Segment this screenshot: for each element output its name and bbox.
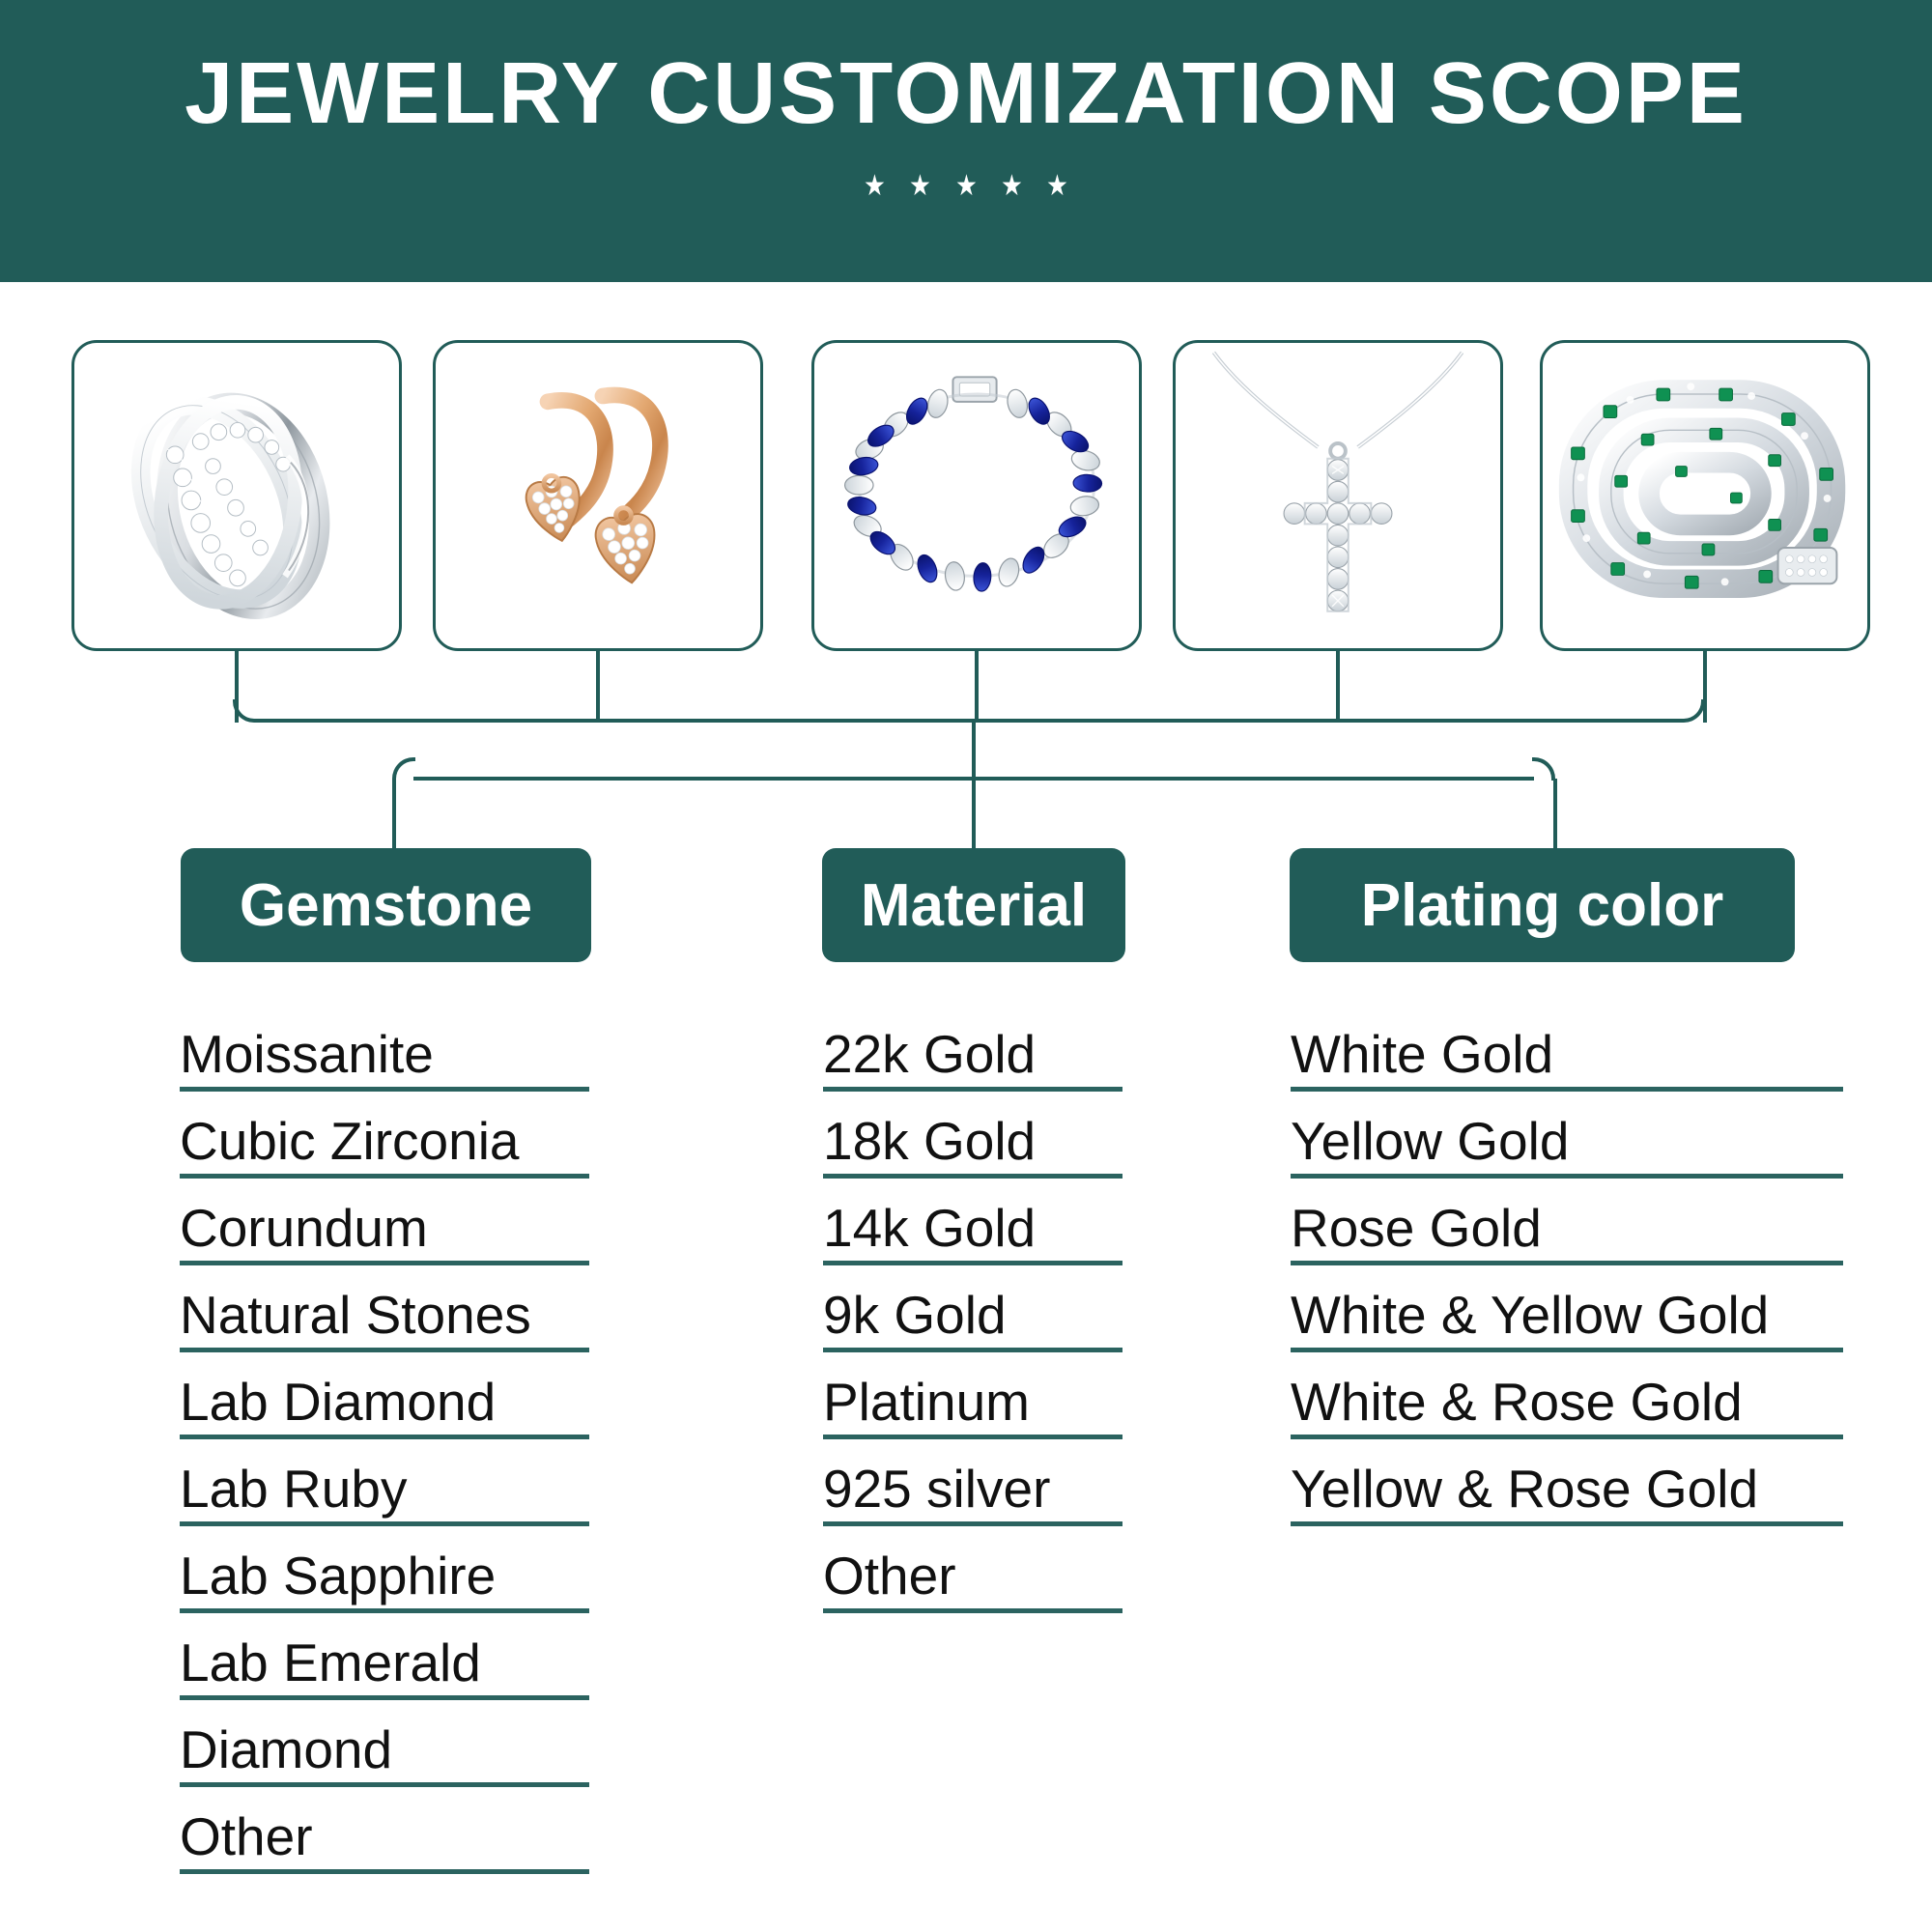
option-row[interactable]: Moissanite [180,1005,589,1092]
infographic-page: JEWELRY CUSTOMIZATION SCOPE ★ ★ ★ ★ ★ [0,0,1932,1932]
option-row[interactable]: 18k Gold [823,1092,1122,1179]
product-card-bracelet[interactable] [811,340,1142,651]
page-title: JEWELRY CUSTOMIZATION SCOPE [0,48,1932,140]
option-list-gemstone: Moissanite Cubic Zirconia Corundum Natur… [180,1005,589,1874]
option-label: Lab Emerald [180,1635,481,1691]
option-row[interactable]: Rose Gold [1291,1179,1843,1265]
option-label: Other [180,1809,313,1865]
connector-drop-material [972,779,976,850]
option-list-material: 22k Gold 18k Gold 14k Gold 9k Gold Plati… [823,1005,1122,1613]
connector-drop-plating-color [1553,779,1557,850]
option-row[interactable]: 14k Gold [823,1179,1122,1265]
option-row[interactable]: Other [180,1787,589,1874]
star-icon: ★ [864,172,886,201]
option-row[interactable]: White Gold [1291,1005,1843,1092]
header-banner: JEWELRY CUSTOMIZATION SCOPE ★ ★ ★ ★ ★ [0,0,1932,282]
option-label: Lab Diamond [180,1375,496,1431]
option-list-plating-color: White Gold Yellow Gold Rose Gold White &… [1291,1005,1843,1526]
option-row[interactable]: Lab Sapphire [180,1526,589,1613]
option-label: Rose Gold [1291,1201,1542,1257]
option-row[interactable]: Lab Emerald [180,1613,589,1700]
option-row[interactable]: Diamond [180,1700,589,1787]
connector-corner-left-2 [392,757,415,781]
category-header-gemstone[interactable]: Gemstone [181,848,591,962]
star-icon: ★ [1001,172,1023,201]
option-label: Moissanite [180,1027,434,1083]
category-header-gemstone-label: Gemstone [240,871,532,940]
connector-drop-bracelet [975,651,979,723]
option-label: 9k Gold [823,1288,1007,1344]
category-header-material-label: Material [861,871,1087,940]
earrings-icon [436,343,760,648]
option-label: White & Rose Gold [1291,1375,1743,1431]
chain-icon [1543,343,1867,648]
star-divider: ★ ★ ★ ★ ★ [0,172,1932,201]
option-label: Yellow Gold [1291,1114,1569,1170]
product-card-ring[interactable] [71,340,402,651]
category-header-material[interactable]: Material [822,848,1125,962]
connector-drop-gemstone [392,779,396,850]
connector-corner-right-2 [1532,757,1555,781]
option-label: Cubic Zirconia [180,1114,520,1170]
option-row[interactable]: Lab Diamond [180,1352,589,1439]
option-row[interactable]: Lab Ruby [180,1439,589,1526]
category-header-plating-color-label: Plating color [1361,871,1723,940]
option-row[interactable]: 9k Gold [823,1265,1122,1352]
option-row[interactable]: Yellow Gold [1291,1092,1843,1179]
option-label: 22k Gold [823,1027,1036,1083]
option-label: Other [823,1548,956,1605]
connector-center-stem [972,723,976,781]
star-icon: ★ [1046,172,1068,201]
option-row[interactable]: White & Rose Gold [1291,1352,1843,1439]
connector-drop-earrings [596,651,600,723]
product-card-necklace[interactable] [1173,340,1503,651]
connector-corner-right [1682,699,1705,723]
ring-icon [74,343,399,648]
option-label: Lab Sapphire [180,1548,496,1605]
option-row[interactable]: Platinum [823,1352,1122,1439]
option-label: Corundum [180,1201,428,1257]
bracelet-icon [814,343,1139,648]
product-card-earrings[interactable] [433,340,763,651]
connector-drop-chain [1703,651,1707,723]
star-icon: ★ [909,172,931,201]
option-row[interactable]: 22k Gold [823,1005,1122,1092]
option-label: White & Yellow Gold [1291,1288,1769,1344]
category-header-plating-color[interactable]: Plating color [1290,848,1795,962]
option-row[interactable]: Natural Stones [180,1265,589,1352]
option-row[interactable]: 925 silver [823,1439,1122,1526]
option-label: Platinum [823,1375,1030,1431]
option-label: Lab Ruby [180,1462,407,1518]
product-card-chain[interactable] [1540,340,1870,651]
option-label: White Gold [1291,1027,1553,1083]
connector-drop-necklace [1336,651,1340,723]
product-card-row [0,340,1932,651]
star-icon: ★ [955,172,978,201]
option-row[interactable]: Other [823,1526,1122,1613]
option-label: Diamond [180,1722,392,1778]
option-label: Natural Stones [180,1288,531,1344]
option-row[interactable]: Corundum [180,1179,589,1265]
option-label: Yellow & Rose Gold [1291,1462,1758,1518]
necklace-icon [1176,343,1500,648]
option-label: 14k Gold [823,1201,1036,1257]
option-label: 18k Gold [823,1114,1036,1170]
option-row[interactable]: Yellow & Rose Gold [1291,1439,1843,1526]
option-row[interactable]: White & Yellow Gold [1291,1265,1843,1352]
option-row[interactable]: Cubic Zirconia [180,1092,589,1179]
option-label: 925 silver [823,1462,1050,1518]
connector-bus-level-1 [254,719,1684,723]
